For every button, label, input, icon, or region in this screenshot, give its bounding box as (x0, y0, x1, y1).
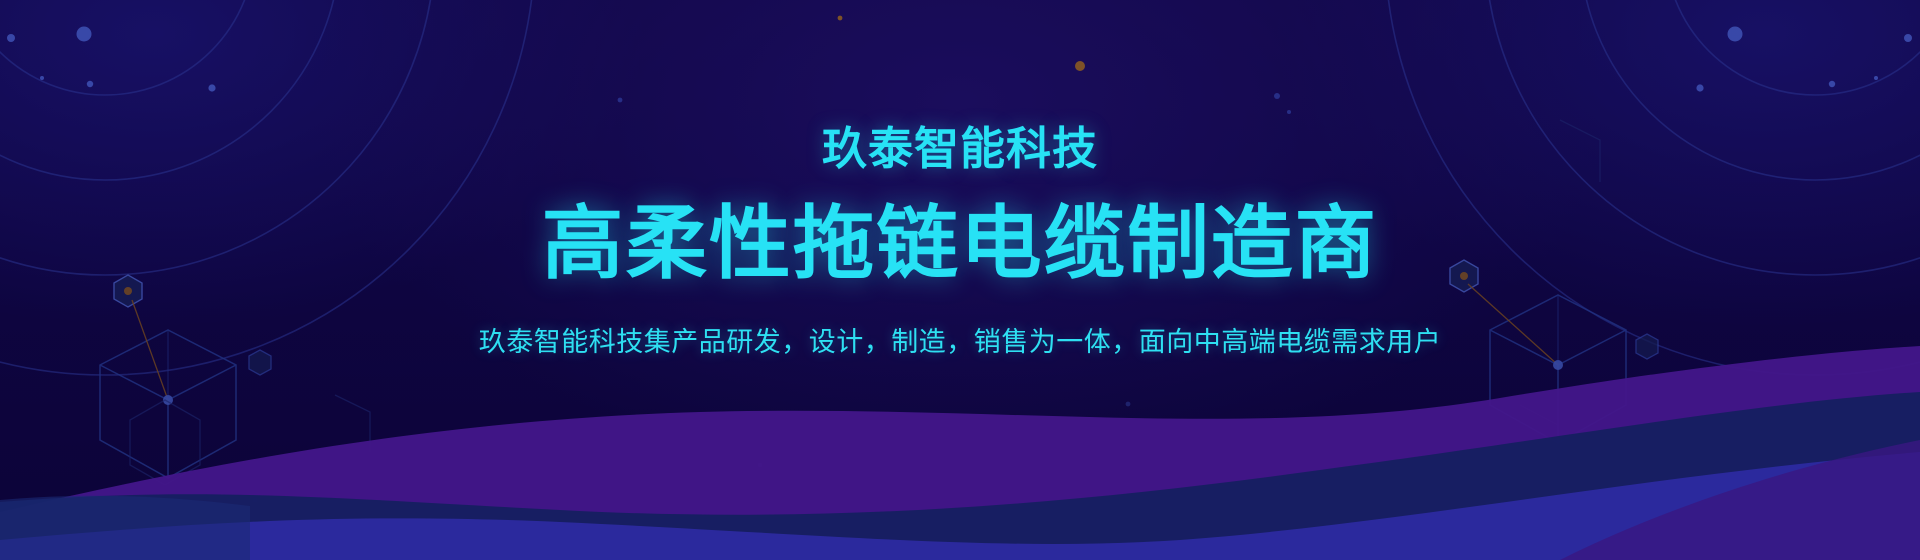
banner-headline: 高柔性拖链电缆制造商 (542, 204, 1378, 284)
banner-description: 玖泰智能科技集产品研发，设计，制造，销售为一体，面向中高端电缆需求用户 (479, 326, 1442, 360)
hero-banner: 玖泰智能科技 高柔性拖链电缆制造商 玖泰智能科技集产品研发，设计，制造，销售为一… (0, 0, 1920, 560)
banner-content: 玖泰智能科技 高柔性拖链电缆制造商 玖泰智能科技集产品研发，设计，制造，销售为一… (0, 0, 1920, 560)
banner-eyebrow: 玖泰智能科技 (822, 126, 1098, 171)
